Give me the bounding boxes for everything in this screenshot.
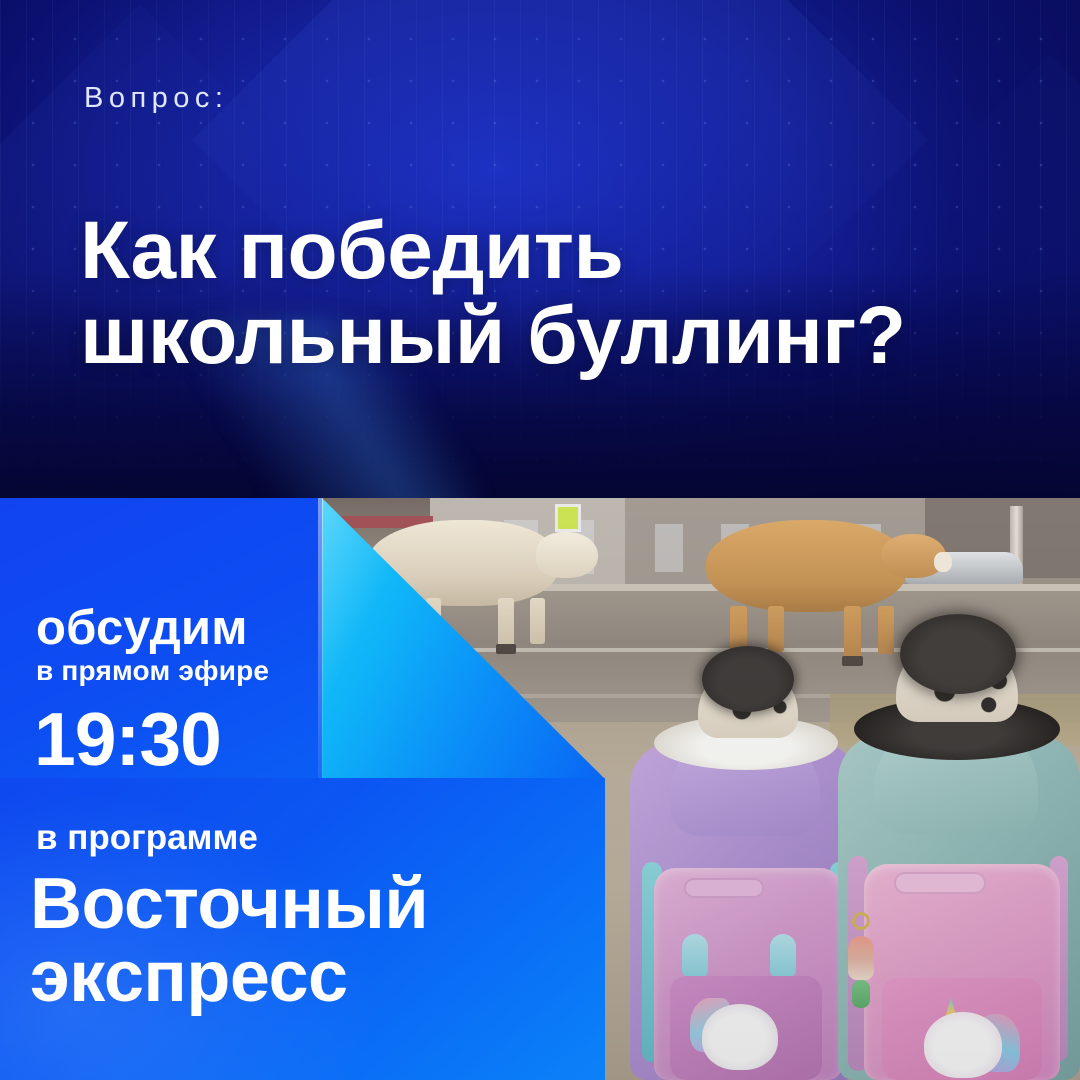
headline-line-1: Как победить bbox=[80, 205, 623, 296]
discuss-label: обсудим bbox=[36, 600, 248, 656]
show-name-line-2: экспресс bbox=[30, 941, 610, 1014]
in-program-label: в программе bbox=[36, 818, 258, 858]
show-name-line-1: Восточный bbox=[30, 864, 428, 944]
show-name: Восточный экспресс bbox=[30, 868, 610, 1015]
broadcast-time: 19:30 bbox=[34, 702, 221, 777]
question-kicker: Вопрос: bbox=[84, 82, 229, 115]
panel-seam bbox=[318, 498, 323, 780]
page-title: Как победить школьный буллинг? bbox=[80, 208, 1060, 379]
live-broadcast-label: в прямом эфире bbox=[36, 655, 269, 687]
headline-line-2: школьный буллинг? bbox=[80, 293, 1060, 378]
poster: Вопрос: Как победить школьный буллинг? bbox=[0, 0, 1080, 1080]
